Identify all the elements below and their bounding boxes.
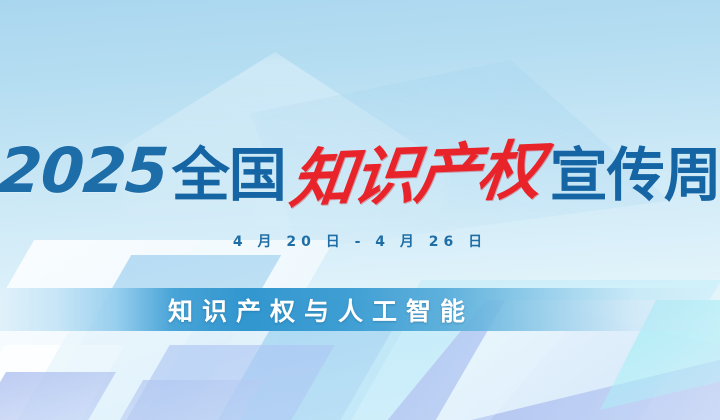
ip-week-poster: 2025 全国 知识产权 宣传周 4 月 20 日 - 4 月 26 日 知识产… [0,0,720,420]
subtitle-text: 知识产权与人工智能 [0,289,720,331]
headline-calligraphy: 知识产权 [286,119,546,220]
headline-prefix: 全国 [172,128,286,212]
poster-dateline: 4 月 20 日 - 4 月 26 日 [0,231,720,251]
headline-suffix: 宣传周 [550,128,720,212]
poster-headline: 2025 全国 知识产权 宣传周 [0,128,720,212]
headline-year: 2025 [0,134,170,207]
